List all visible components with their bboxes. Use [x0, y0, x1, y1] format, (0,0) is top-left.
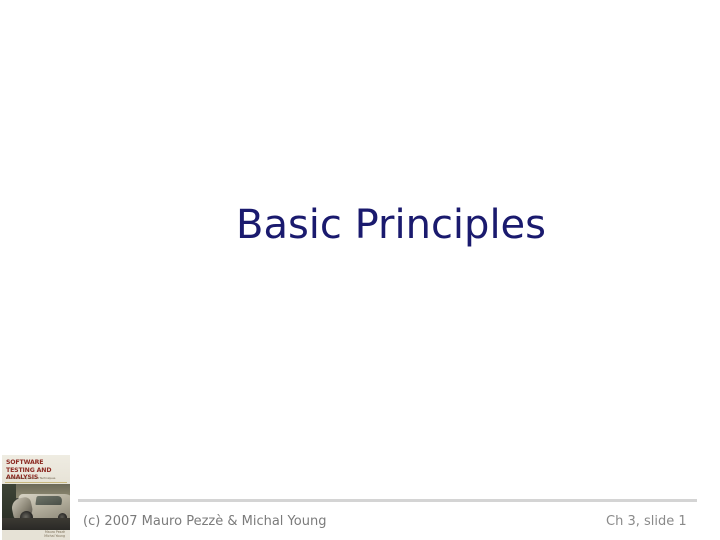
footer-slide-reference: Ch 3, slide 1 [606, 513, 687, 530]
footer-divider [78, 499, 697, 502]
photo-ground [2, 518, 70, 530]
book-cover-author-2: Michal Young [2, 534, 70, 538]
presentation-slide: Basic Principles (c) 2007 Mauro Pezzè & … [0, 0, 720, 540]
book-cover-authors: Mauro Pezzè Michal Young [2, 530, 70, 540]
page-title: Basic Principles [236, 202, 546, 248]
car-crash-photo-icon [2, 484, 70, 530]
book-cover-thumbnail: Software Testing and Analysis Process, P… [2, 455, 70, 540]
footer-copyright: (c) 2007 Mauro Pezzè & Michal Young [83, 513, 326, 530]
book-cover-rule [5, 482, 67, 483]
photo-car-window [35, 496, 62, 505]
book-cover-subtitle: Process, Principles, and Techniques [6, 476, 66, 480]
